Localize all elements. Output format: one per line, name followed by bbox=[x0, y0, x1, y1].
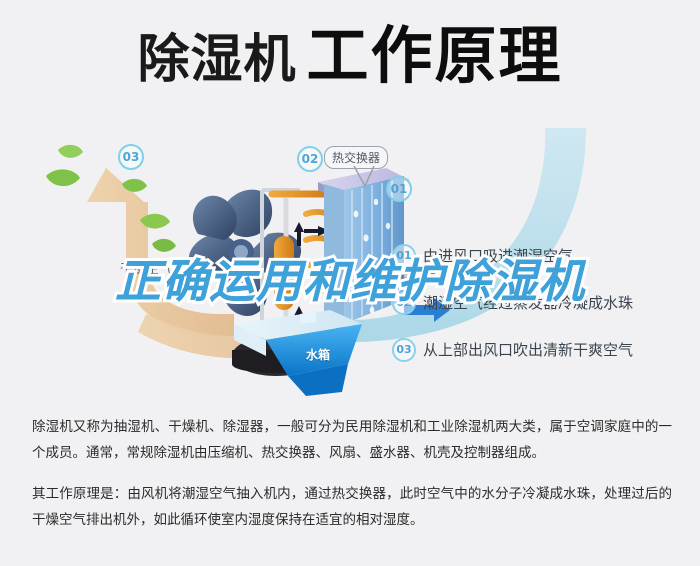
page-title-part2: 工作原理 bbox=[307, 22, 563, 91]
marker-03-icon: 03 bbox=[118, 144, 144, 170]
page-root: 除湿机工作原理 bbox=[0, 0, 700, 566]
callout-pointer-icon bbox=[352, 166, 378, 188]
article-body: 除湿机又称为抽湿机、干燥机、除湿器，一般可分为民用除湿机和工业除湿机两大类，属于… bbox=[32, 414, 672, 547]
page-title: 除湿机工作原理 bbox=[0, 26, 700, 88]
legend-item-03: 03 从上部出风口吹出清新干爽空气 bbox=[392, 337, 692, 362]
water-tank-label: 水箱 bbox=[306, 346, 330, 363]
body-paragraph-2: 其工作原理是：由风机将潮湿空气抽入机内，通过热交换器，此时空气中的水分子冷凝成水… bbox=[32, 481, 672, 534]
marker-01-icon: 01 bbox=[386, 176, 412, 202]
overlay-headline-stroke: 正确运用和维护除湿机 bbox=[0, 258, 700, 304]
body-paragraph-1: 除湿机又称为抽湿机、干燥机、除湿器，一般可分为民用除湿机和工业除湿机两大类，属于… bbox=[32, 414, 672, 467]
legend-number-03: 03 bbox=[392, 338, 416, 362]
legend-text-03: 从上部出风口吹出清新干爽空气 bbox=[423, 339, 633, 360]
page-title-part1: 除湿机 bbox=[137, 31, 296, 89]
marker-02-icon: 02 bbox=[297, 146, 323, 172]
